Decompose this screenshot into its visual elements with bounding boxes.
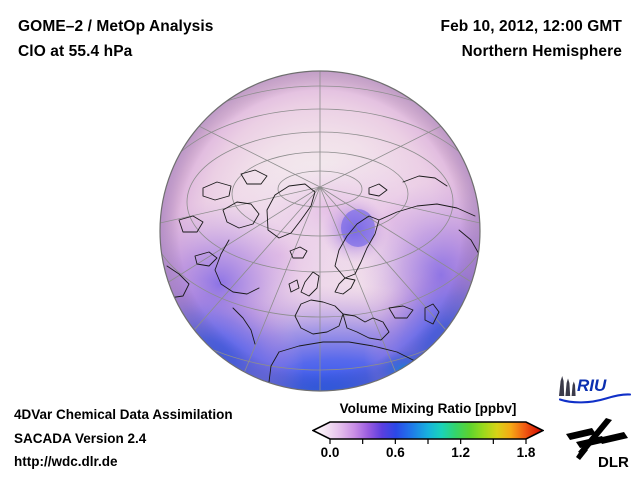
- riu-tower-icon: [559, 376, 576, 396]
- coastline-arabia: [431, 370, 463, 392]
- footer-url: http://wdc.dlr.de: [14, 450, 233, 474]
- globe-map: [159, 70, 481, 392]
- footer-credits: 4DVar Chemical Data Assimilation SACADA …: [14, 403, 233, 474]
- title-instrument: GOME–2 / MetOp Analysis: [18, 14, 214, 39]
- riu-logo: RIU: [556, 372, 634, 404]
- title-species-level: ClO at 55.4 hPa: [18, 39, 214, 64]
- riu-logo-text: RIU: [577, 376, 607, 395]
- colorbar-tick-label: 1.2: [451, 445, 470, 460]
- title-datetime: Feb 10, 2012, 12:00 GMT: [441, 14, 623, 39]
- figure-canvas: GOME–2 / MetOp Analysis ClO at 55.4 hPa …: [0, 0, 640, 480]
- coastline-red-sea: [417, 362, 445, 392]
- colorbar: Volume Mixing Ratio [ppbv] 0.00.61.21.8: [312, 401, 544, 463]
- title-hemisphere: Northern Hemisphere: [441, 39, 623, 64]
- globe-svg: [159, 70, 481, 392]
- colorbar-tick-label: 1.8: [517, 445, 536, 460]
- header-left: GOME–2 / MetOp Analysis ClO at 55.4 hPa: [18, 14, 214, 64]
- footer-method: 4DVar Chemical Data Assimilation: [14, 403, 233, 427]
- header-right: Feb 10, 2012, 12:00 GMT Northern Hemisph…: [441, 14, 623, 64]
- colorbar-body: [313, 422, 543, 439]
- dlr-logo-text: DLR: [598, 454, 629, 471]
- colorbar-tick-labels: 0.00.61.21.8: [312, 445, 544, 463]
- footer-version: SACADA Version 2.4: [14, 427, 233, 451]
- colorbar-tick-label: 0.6: [386, 445, 405, 460]
- colorbar-title: Volume Mixing Ratio [ppbv]: [312, 401, 544, 416]
- colorbar-swatch: [312, 420, 544, 444]
- riu-swoosh-icon: [560, 394, 630, 402]
- dlr-logo: DLR: [562, 414, 632, 472]
- colorbar-tick-label: 0.0: [321, 445, 340, 460]
